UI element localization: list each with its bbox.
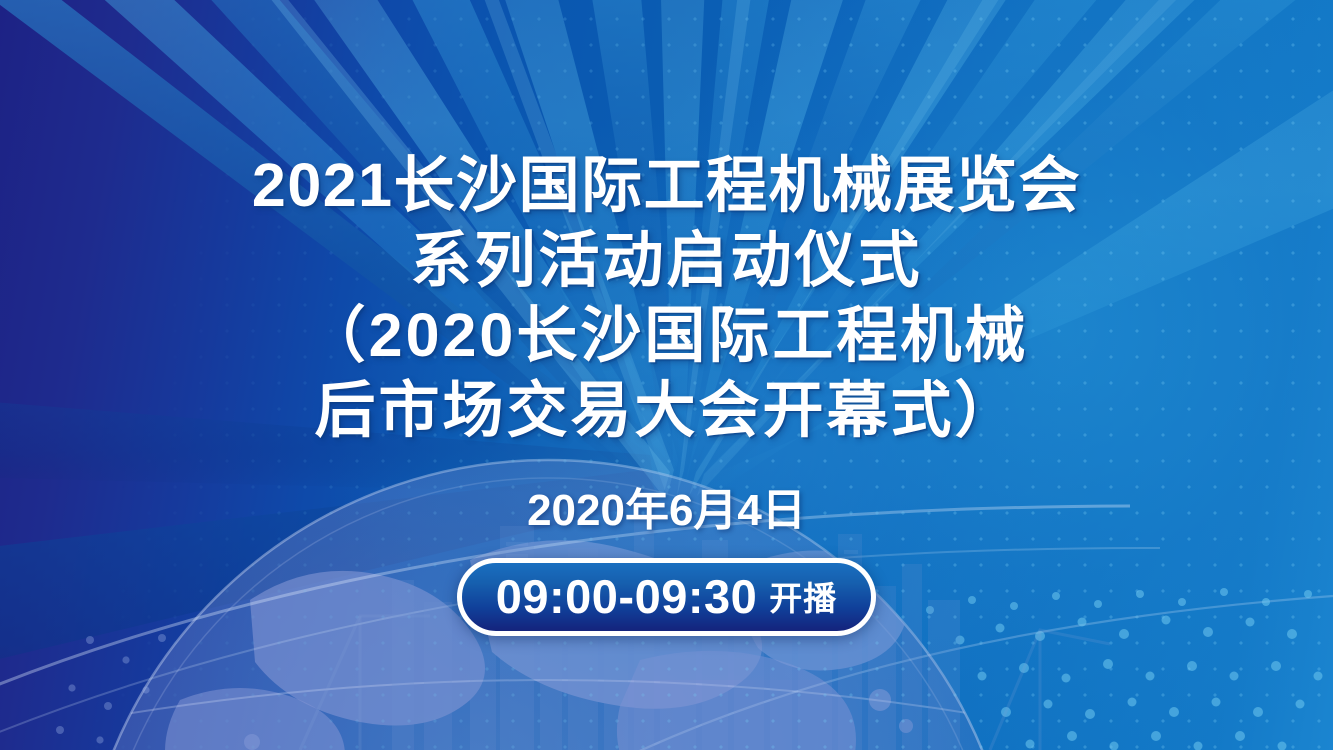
title-line-1: 2021长沙国际工程机械展览会 [0,148,1333,223]
broadcast-label: 开播 [769,579,837,619]
poster-content: 2021长沙国际工程机械展览会 系列活动启动仪式 （2020长沙国际工程机械 后… [0,0,1333,750]
event-title: 2021长沙国际工程机械展览会 系列活动启动仪式 （2020长沙国际工程机械 后… [0,148,1333,448]
title-line-4: 后市场交易大会开幕式） [0,373,1333,448]
title-line-3: （2020长沙国际工程机械 [0,298,1333,373]
broadcast-time-badge: 09:00-09:30 开播 [457,558,877,636]
event-poster: 2021长沙国际工程机械展览会 系列活动启动仪式 （2020长沙国际工程机械 后… [0,0,1333,750]
event-date: 2020年6月4日 [527,486,806,536]
broadcast-time: 09:00-09:30 [496,572,758,622]
title-line-2: 系列活动启动仪式 [0,223,1333,298]
